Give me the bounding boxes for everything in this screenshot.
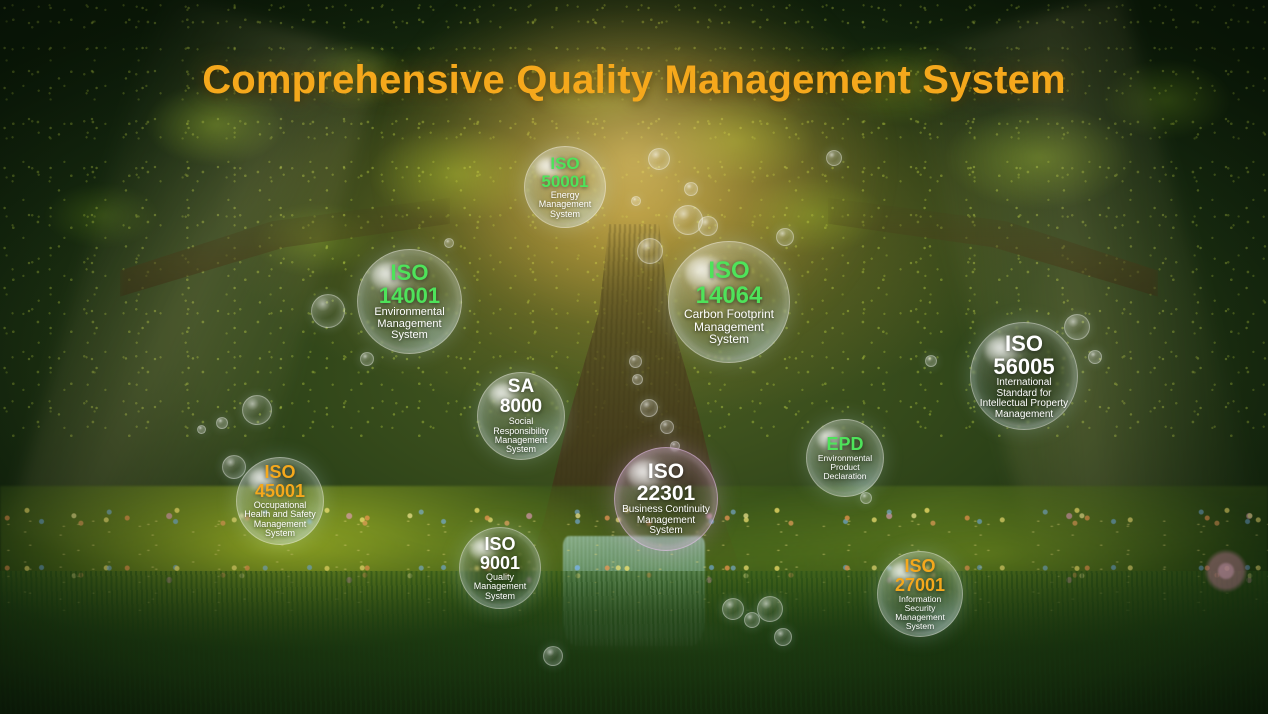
bubble-sa-8000[interactable]: SA 8000 Social Responsibility Management… [477, 372, 565, 460]
bubble-code-line1: ISO [480, 535, 520, 554]
foreground-grass [0, 571, 1268, 714]
bubble-code: ISO 27001 [895, 557, 945, 595]
decorative-bubble [197, 425, 206, 434]
bubble-description: Energy Management System [525, 191, 605, 219]
bubble-code-line1: ISO [993, 332, 1054, 355]
bubble-code-line1: EPD [826, 435, 863, 454]
bubble-code-line1: ISO [541, 155, 588, 173]
bubble-code-line1: ISO [895, 557, 945, 576]
decorative-bubble [637, 238, 663, 264]
decorative-bubble [222, 455, 246, 479]
bubble-code: EPD [826, 435, 863, 454]
bubble-code: ISO 14064 [696, 258, 763, 308]
bubble-code-line2: 56005 [993, 355, 1054, 378]
decorative-bubble [698, 216, 718, 236]
decorative-bubble [722, 598, 744, 620]
bubble-description: Information Security Management System [878, 595, 962, 631]
bubble-epd[interactable]: EPD Environmental Product Declaration [806, 419, 884, 497]
bubble-iso-22301[interactable]: ISO 22301 Business Continuity Management… [614, 447, 718, 551]
bubble-description: Social Responsibility Management System [478, 417, 564, 455]
decorative-bubble [1064, 314, 1090, 340]
decorative-bubble [629, 355, 642, 368]
bubble-description: International Standard for Intellectual … [971, 378, 1077, 420]
bubble-code-line2: 27001 [895, 576, 945, 595]
bubble-code: ISO 45001 [255, 463, 305, 501]
bubble-description: Environmental Product Declaration [807, 454, 883, 481]
decorative-bubble [311, 294, 345, 328]
decorative-bubble [360, 352, 374, 366]
decorative-bubble [640, 399, 658, 417]
decorative-bubble [242, 395, 272, 425]
decorative-bubble [1088, 350, 1102, 364]
bubble-code-line1: ISO [379, 261, 440, 284]
bubble-iso-50001[interactable]: ISO 50001 Energy Management System [524, 146, 606, 228]
slide-canvas: Comprehensive Quality Management System … [0, 0, 1268, 714]
bubble-code: ISO 22301 [637, 461, 695, 505]
bubble-code: ISO 50001 [541, 155, 588, 191]
decorative-bubble [660, 420, 674, 434]
bubble-description: Business Continuity Management System [615, 505, 717, 537]
bubble-code-line2: 45001 [255, 482, 305, 501]
bubble-iso-56005[interactable]: ISO 56005 International Standard for Int… [970, 322, 1078, 430]
page-title: Comprehensive Quality Management System [0, 58, 1268, 103]
decorative-bubble [774, 628, 792, 646]
decorative-bubble [684, 182, 698, 196]
bubble-code-line2: 8000 [500, 397, 542, 417]
decorative-bubble [757, 596, 783, 622]
decorative-bubble [860, 492, 872, 504]
bubble-code-line2: 50001 [541, 173, 588, 191]
bubble-description: Environmental Management System [358, 307, 461, 342]
bubble-iso-45001[interactable]: ISO 45001 Occupational Health and Safety… [236, 457, 324, 545]
bubble-description: Occupational Health and Safety Managemen… [237, 501, 323, 539]
pink-flower [1198, 548, 1254, 594]
decorative-bubble [776, 228, 794, 246]
decorative-bubble [826, 150, 842, 166]
decorative-bubble [444, 238, 454, 248]
bubble-code-line2: 22301 [637, 483, 695, 505]
bubble-iso-27001[interactable]: ISO 27001 Information Security Managemen… [877, 551, 963, 637]
bubble-code-line2: 9001 [480, 554, 520, 573]
bubble-description: Quality Management System [460, 573, 540, 601]
bubble-code-line1: ISO [696, 258, 763, 283]
decorative-bubble [632, 374, 643, 385]
bubble-code: ISO 9001 [480, 535, 520, 573]
decorative-bubble [631, 196, 641, 206]
bubble-code: SA 8000 [500, 377, 542, 417]
decorative-bubble [925, 355, 937, 367]
decorative-bubble [648, 148, 670, 170]
bubble-code-line1: SA [500, 377, 542, 397]
bubble-iso-14001[interactable]: ISO 14001 Environmental Management Syste… [357, 249, 462, 354]
bubble-code: ISO 56005 [993, 332, 1054, 378]
bubble-code-line2: 14064 [696, 283, 763, 308]
bubble-iso-14064[interactable]: ISO 14064 Carbon Footprint Management Sy… [668, 241, 790, 363]
bubble-iso-9001[interactable]: ISO 9001 Quality Management System [459, 527, 541, 609]
decorative-bubble [543, 646, 563, 666]
bubble-code-line1: ISO [637, 461, 695, 483]
decorative-bubble [216, 417, 228, 429]
bubble-code-line2: 14001 [379, 284, 440, 307]
bubble-description: Carbon Footprint Management System [669, 308, 789, 346]
bubble-code-line1: ISO [255, 463, 305, 482]
bubble-code: ISO 14001 [379, 261, 440, 307]
